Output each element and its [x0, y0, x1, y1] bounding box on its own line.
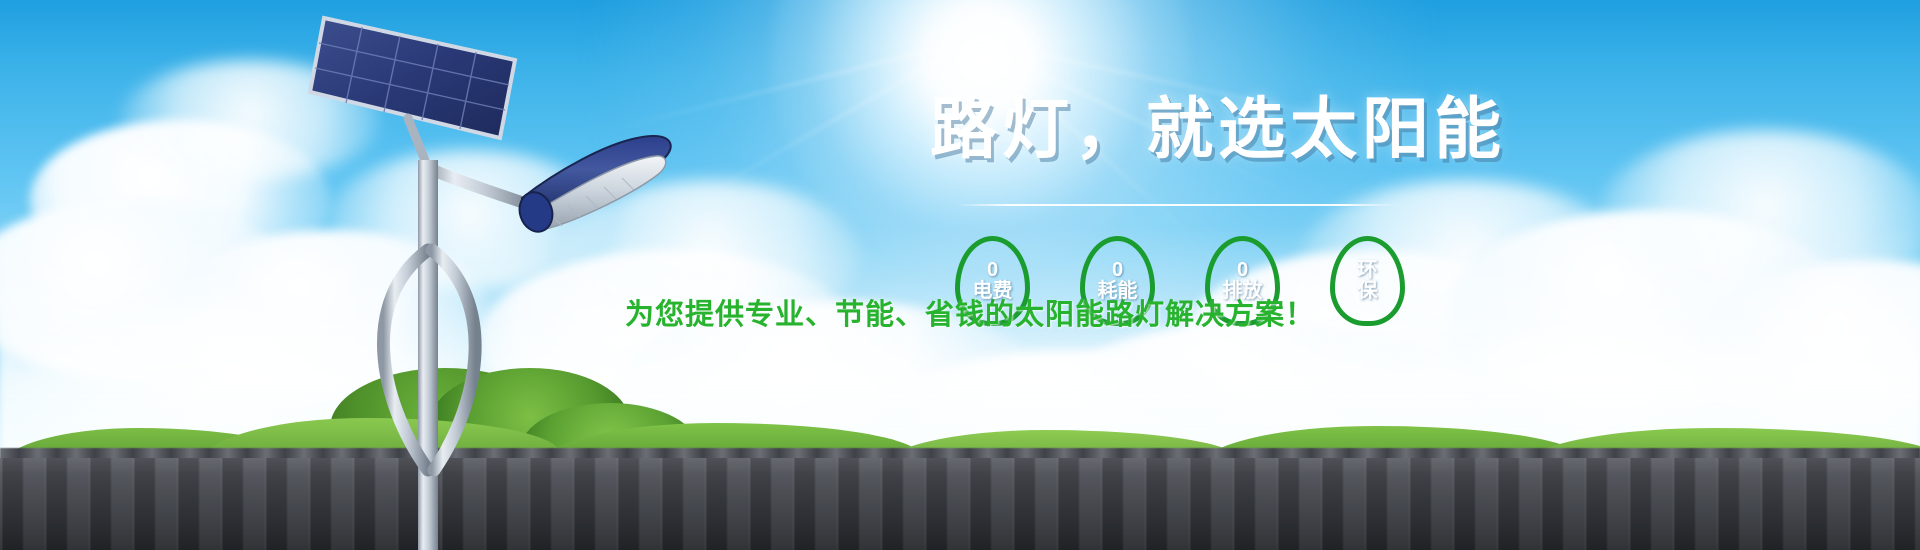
feature-badge-label: 0 耗能: [1098, 260, 1138, 302]
lamp-pole: [418, 160, 438, 550]
title-divider: [955, 204, 1400, 206]
badge-line-1: 0: [973, 260, 1013, 281]
feature-badge-label: 0 排放: [1223, 260, 1263, 302]
badge-line-2: 排放: [1223, 281, 1263, 302]
banner-tagline: 为您提供专业、节能、省钱的太阳能路灯解决方案！: [625, 291, 1315, 333]
tiled-wall: [0, 458, 1920, 550]
solar-street-lamp-banner: 路灯，就选太阳能 0 电费 0 耗能 0 排放 环: [0, 0, 1920, 550]
lamp-arm: [428, 168, 532, 206]
led-lamp-head: [515, 136, 671, 236]
feature-badge-label: 环 保: [1358, 260, 1378, 302]
badge-line-2: 耗能: [1098, 281, 1138, 302]
feature-badge-label: 0 电费: [973, 260, 1013, 302]
pole-support-curve: [432, 250, 475, 470]
solar-street-lamp-illustration: [300, 0, 720, 550]
page-title: 路灯，就选太阳能: [930, 96, 1506, 163]
badge-line-1: 0: [1223, 260, 1263, 281]
badge-line-2: 电费: [973, 281, 1013, 302]
badge-line-1: 0: [1098, 260, 1138, 281]
badge-line-1: 环: [1358, 260, 1378, 281]
feature-badge: 环 保: [1330, 236, 1405, 326]
wall-tiles: [0, 458, 1920, 550]
badge-line-2: 保: [1358, 281, 1378, 302]
